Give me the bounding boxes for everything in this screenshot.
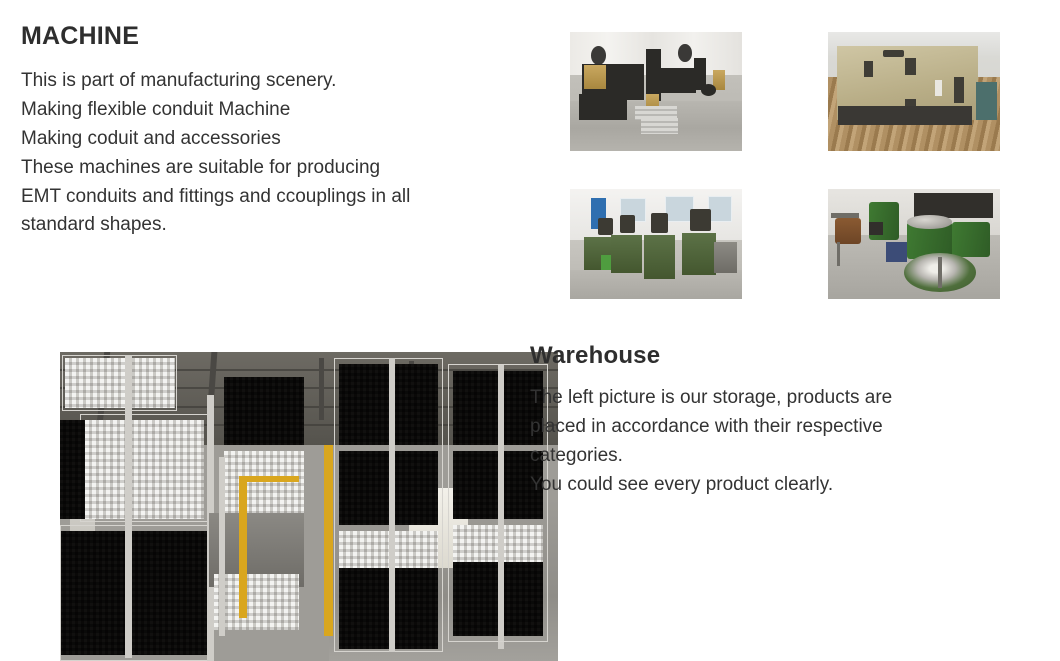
machine-photo-3 (570, 189, 742, 299)
photo-1-scene (570, 32, 742, 151)
photo-3-scene (570, 189, 742, 299)
machine-photo-1 (570, 32, 742, 151)
warehouse-description: The left picture is our storage, product… (530, 384, 1030, 500)
warehouse-text-block: Warehouse The left picture is our storag… (530, 342, 1030, 500)
warehouse-heading: Warehouse (530, 342, 1030, 370)
photo-2-scene (828, 32, 1000, 151)
machine-heading: MACHINE (21, 22, 521, 51)
machine-photo-2 (828, 32, 1000, 151)
warehouse-section: Warehouse The left picture is our storag… (0, 336, 1060, 661)
machine-section: MACHINE This is part of manufacturing sc… (0, 0, 1060, 322)
machine-text-block: MACHINE This is part of manufacturing sc… (21, 22, 521, 240)
machine-photo-4 (828, 189, 1000, 299)
machine-description: This is part of manufacturing scenery. M… (21, 67, 521, 240)
machine-photo-grid (530, 16, 1040, 315)
warehouse-photo (60, 352, 558, 661)
photo-4-scene (828, 189, 1000, 299)
